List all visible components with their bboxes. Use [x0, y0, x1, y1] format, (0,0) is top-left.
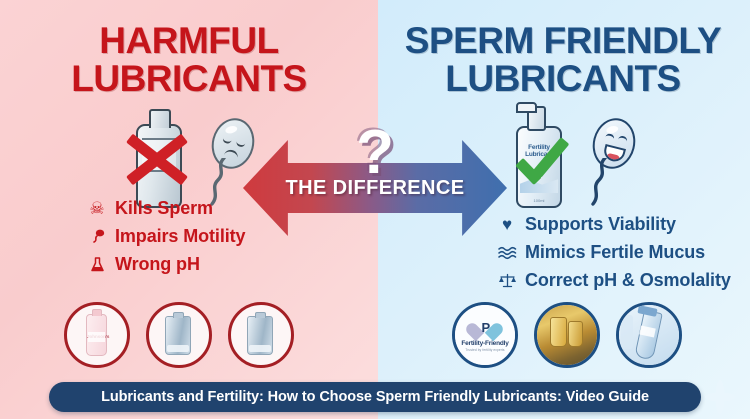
bottle-footer-text: 100ml	[521, 198, 557, 203]
bullet-label: Correct pH & Osmolality	[525, 270, 731, 291]
fertility-lubricant-bottle-icon: Fertility Lubricant 100ml	[505, 106, 571, 206]
right-product-thumbnails: P Fertility-Friendly Trusted by fertilit…	[452, 302, 682, 368]
bullet-label: Impairs Motility	[115, 226, 245, 247]
bullet-label: Wrong pH	[115, 254, 200, 275]
right-bullet-list: ♥ Supports Viability Mimics Fertile Mucu…	[496, 212, 731, 296]
red-x-icon	[124, 126, 190, 188]
waves-icon	[496, 241, 518, 263]
left-hero-illustration	[128, 108, 262, 206]
list-item: ♥ Supports Viability	[496, 212, 731, 236]
skull-icon: ☠	[86, 197, 108, 219]
infographic-canvas: HARMFUL LUBRICANTS SPERM FRIENDLY LUBRIC…	[0, 0, 750, 419]
green-check-icon	[511, 144, 569, 194]
banner-text: Lubricants and Fertility: How to Choose …	[101, 389, 649, 405]
lotion-bottle-icon	[128, 108, 190, 206]
lubricant-tube-thumbnail-2[interactable]	[228, 302, 294, 368]
sperm-icon	[86, 225, 108, 247]
product-brand-label: Johnson's	[87, 334, 106, 339]
list-item: Mimics Fertile Mucus	[496, 240, 731, 264]
oil-bottles-photo-thumbnail[interactable]	[534, 302, 600, 368]
happy-sperm-icon	[577, 114, 643, 206]
left-title-line-1: HARMFUL	[8, 22, 370, 60]
question-mark-icon: ?	[345, 124, 405, 186]
video-guide-banner[interactable]: Lubricants and Fertility: How to Choose …	[49, 382, 701, 412]
list-item: Impairs Motility	[86, 224, 245, 248]
right-title-line-1: SPERM FRIENDLY	[382, 22, 744, 60]
logo-subtitle: Trusted by fertility experts	[465, 348, 504, 352]
logo-title: Fertility-Friendly	[461, 340, 508, 347]
test-tube-photo-thumbnail[interactable]	[616, 302, 682, 368]
left-title-line-2: LUBRICANTS	[8, 60, 370, 98]
flask-icon	[86, 253, 108, 275]
list-item: Correct pH & Osmolality	[496, 268, 731, 292]
left-bullet-list: ☠ Kills Sperm Impairs Motility Wrong pH	[86, 196, 245, 280]
logo-letter: P	[482, 321, 491, 335]
fertility-friendly-logo-thumbnail[interactable]: P Fertility-Friendly Trusted by fertilit…	[452, 302, 518, 368]
list-item: Wrong pH	[86, 252, 245, 276]
sparkle-icon	[705, 380, 735, 414]
heart-logo-icon: P	[474, 318, 497, 339]
bullet-label: Kills Sperm	[115, 198, 213, 219]
scales-icon	[496, 269, 518, 291]
right-title-line-2: LUBRICANTS	[382, 60, 744, 98]
lubricant-tube-thumbnail-1[interactable]	[146, 302, 212, 368]
baby-oil-product-thumbnail[interactable]: Johnson's	[64, 302, 130, 368]
right-panel-title: SPERM FRIENDLY LUBRICANTS	[382, 22, 744, 97]
right-hero-illustration: Fertility Lubricant 100ml	[505, 106, 643, 206]
bullet-label: Supports Viability	[525, 214, 676, 235]
heart-icon: ♥	[496, 213, 518, 235]
bullet-label: Mimics Fertile Mucus	[525, 242, 705, 263]
left-panel-title: HARMFUL LUBRICANTS	[8, 22, 370, 97]
list-item: ☠ Kills Sperm	[86, 196, 245, 220]
left-product-thumbnails: Johnson's	[64, 302, 294, 368]
